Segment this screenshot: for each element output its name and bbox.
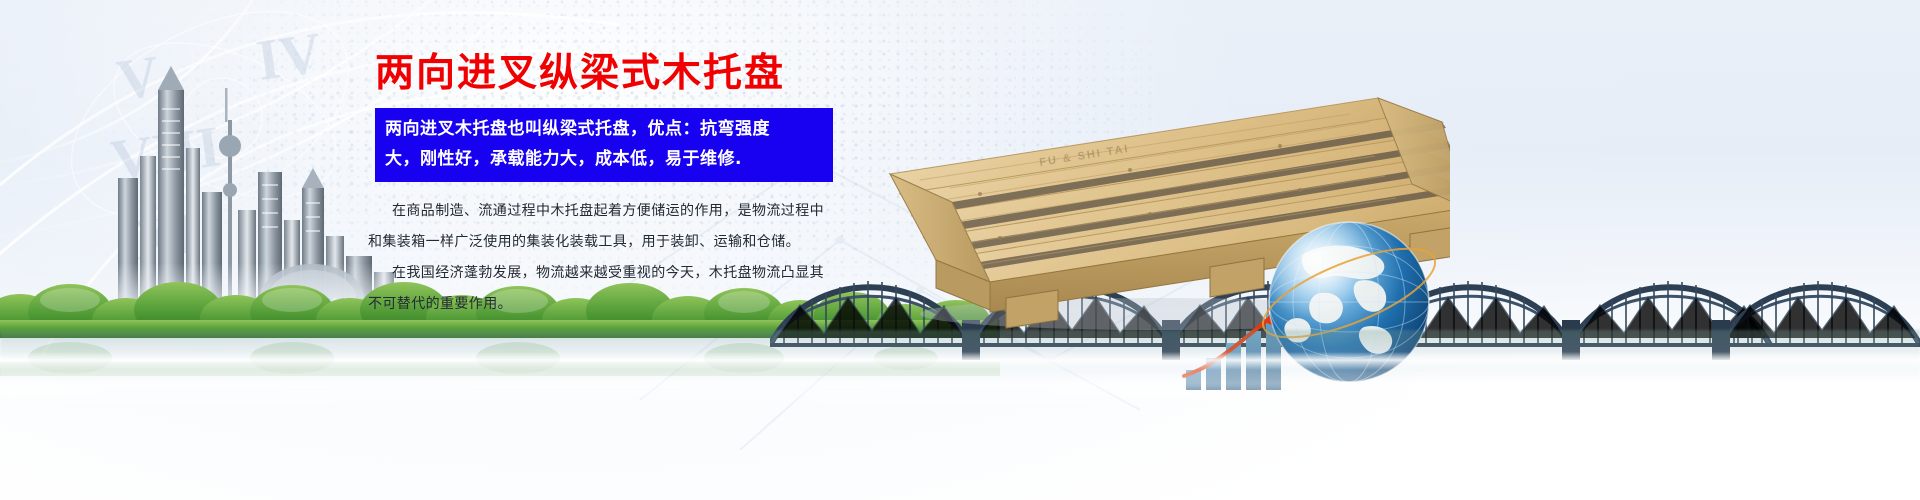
svg-text:FU & SHI TAI: FU & SHI TAI [1039, 143, 1131, 169]
highlight-line-1: 两向进叉木托盘也叫纵梁式托盘，优点：抗弯强度 [385, 114, 823, 144]
svg-text:VIII: VIII [110, 113, 224, 193]
wood-pallet-image: FU & SHI TAI [830, 62, 1450, 332]
water-highlight-line [0, 352, 1920, 370]
bar-chart-graphic [1180, 300, 1310, 390]
bridge-image [770, 250, 1920, 365]
promo-banner: V VIII XI IV [0, 0, 1920, 500]
highlight-callout: 两向进叉木托盘也叫纵梁式托盘，优点：抗弯强度 大，刚性好，承载能力大，成本低，易… [375, 108, 833, 182]
body-text: 在商品制造、流通过程中木托盘起着方便储运的作用，是物流过程中和集装箱一样广泛使用… [368, 196, 838, 320]
svg-text:XI: XI [129, 200, 202, 273]
highlight-line-2: 大，刚性好，承载能力大，成本低，易于维修. [385, 144, 823, 174]
body-paragraph-2: 在我国经济蓬勃发展，物流越来越受重视的今天，木托盘物流凸显其不可替代的重要作用。 [368, 258, 838, 320]
globe-image [1262, 215, 1437, 390]
trees-reflection [0, 330, 1000, 376]
page-title: 两向进叉纵梁式木托盘 [375, 52, 785, 96]
svg-text:V: V [113, 43, 164, 113]
body-paragraph-1: 在商品制造、流通过程中木托盘起着方便储运的作用，是物流过程中和集装箱一样广泛使用… [368, 196, 838, 258]
roman-numerals-texture: V VIII XI IV [110, 20, 410, 320]
svg-text:IV: IV [253, 20, 326, 93]
water-reflection [0, 330, 1920, 420]
